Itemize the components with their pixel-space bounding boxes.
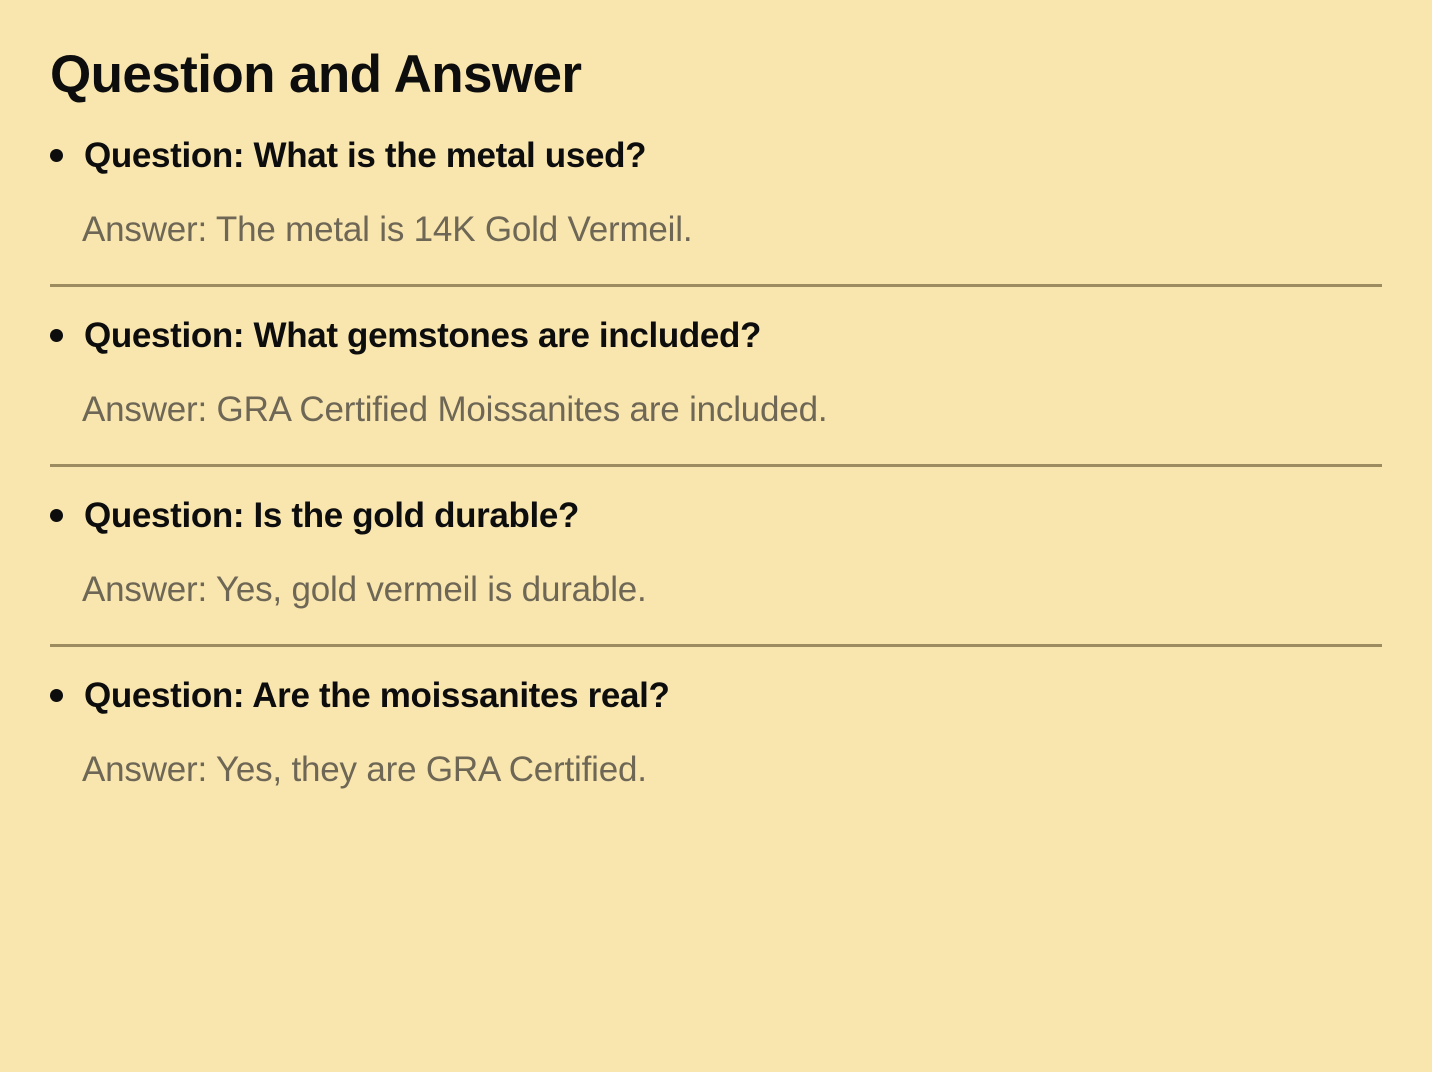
faq-question-text: Question: What gemstones are included? xyxy=(84,313,1382,359)
bullet-dot-icon xyxy=(50,689,63,702)
faq-answer-text: Answer: The metal is 14K Gold Vermeil. xyxy=(50,207,1382,253)
bullet-dot-icon xyxy=(50,509,63,522)
faq-question-text: Question: Is the gold durable? xyxy=(84,493,1382,539)
faq-question-text: Question: What is the metal used? xyxy=(84,133,1382,179)
faq-question-row[interactable]: Question: Is the gold durable? xyxy=(50,493,1382,539)
faq-answer-text: Answer: GRA Certified Moissanites are in… xyxy=(50,387,1382,433)
bullet-dot-icon xyxy=(50,149,63,162)
faq-list: Question: What is the metal used? Answer… xyxy=(50,107,1382,793)
faq-answer-text: Answer: Yes, they are GRA Certified. xyxy=(50,747,1382,793)
faq-answer-text: Answer: Yes, gold vermeil is durable. xyxy=(50,567,1382,613)
faq-item: Question: What is the metal used? Answer… xyxy=(50,107,1382,253)
faq-section: Question and Answer Question: What is th… xyxy=(0,0,1432,1072)
faq-item: Question: Are the moissanites real? Answ… xyxy=(50,644,1382,793)
faq-question-row[interactable]: Question: What gemstones are included? xyxy=(50,313,1382,359)
page-title: Question and Answer xyxy=(50,0,1382,107)
faq-question-row[interactable]: Question: What is the metal used? xyxy=(50,133,1382,179)
faq-item: Question: Is the gold durable? Answer: Y… xyxy=(50,464,1382,613)
faq-question-row[interactable]: Question: Are the moissanites real? xyxy=(50,673,1382,719)
faq-item: Question: What gemstones are included? A… xyxy=(50,284,1382,433)
bullet-dot-icon xyxy=(50,329,63,342)
faq-question-text: Question: Are the moissanites real? xyxy=(84,673,1382,719)
